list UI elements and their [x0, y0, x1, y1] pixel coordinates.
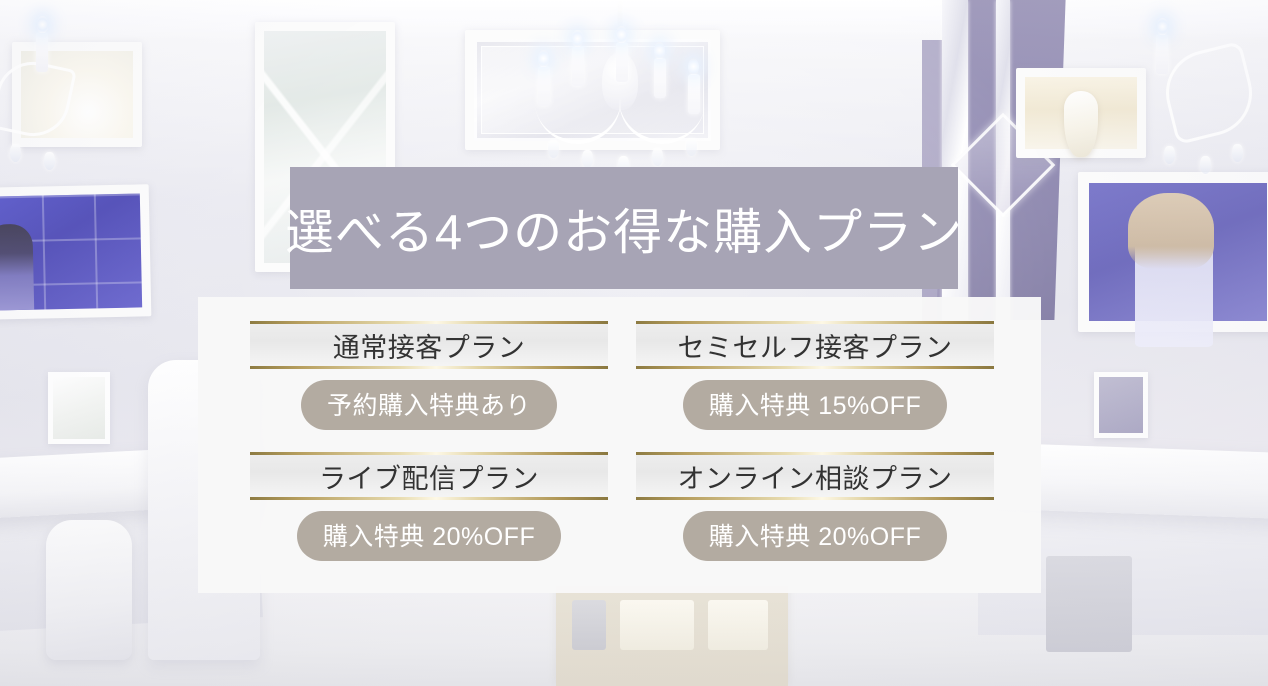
candle-flame	[616, 26, 627, 43]
crystal-drop	[44, 152, 55, 170]
bench-cushion	[620, 600, 694, 650]
candle-flame	[1157, 18, 1168, 35]
plan-title: ライブ配信プラン	[319, 457, 539, 496]
bench-panel	[572, 600, 606, 650]
wall-sconce-right	[1134, 20, 1264, 190]
promotional-banner-stage: 選べる4つのお得な購入プラン 通常接客プラン 予約購入特典あり セミセルフ接客プ…	[0, 0, 1268, 686]
woman-hair	[1128, 193, 1214, 269]
candle-flame	[538, 50, 549, 67]
plan-header: オンライン相談プラン	[636, 452, 994, 500]
person-silhouette	[0, 224, 34, 311]
plan-card-live-stream[interactable]: ライブ配信プラン 購入特典 20%OFF	[250, 452, 608, 561]
plan-title: オンライン相談プラン	[678, 457, 953, 496]
plan-card-standard[interactable]: 通常接客プラン 予約購入特典あり	[250, 321, 608, 430]
plan-benefit-badge: 購入特典 20%OFF	[683, 511, 947, 561]
niche-pane	[1025, 77, 1137, 149]
white-vase	[1064, 91, 1098, 157]
plan-card-online-consult[interactable]: オンライン相談プラン 購入特典 20%OFF	[636, 452, 994, 561]
plan-benefit-badge: 予約購入特典あり	[301, 380, 557, 430]
crystal-drop	[686, 138, 697, 156]
candle-flame	[572, 30, 583, 47]
laundry-bin	[1046, 556, 1132, 652]
candle-flame	[37, 16, 48, 33]
crystal-drop	[1232, 144, 1243, 162]
plans-grid: 通常接客プラン 予約購入特典あり セミセルフ接客プラン 購入特典 15%OFF …	[250, 321, 990, 561]
framed-vase-niche	[1016, 68, 1146, 158]
sconce-candle	[1156, 34, 1168, 74]
salon-chair-left	[46, 520, 132, 660]
wall-sconce-left	[0, 28, 108, 178]
sconce-candle	[36, 32, 48, 72]
framed-display-screen-left	[0, 184, 151, 319]
crystal-drop	[10, 144, 21, 162]
crystal-chandelier	[520, 0, 720, 180]
crystal-drop	[652, 148, 663, 166]
plan-badge-row: 予約購入特典あり	[250, 380, 608, 430]
candle-flame	[688, 58, 699, 75]
plan-title: 通常接客プラン	[333, 326, 526, 365]
screen-pane	[0, 193, 142, 310]
plan-benefit-badge: 購入特典 15%OFF	[683, 380, 947, 430]
crystal-drop	[548, 140, 559, 158]
crystal-drop	[1200, 156, 1211, 174]
screen-pane	[1089, 183, 1267, 321]
candle-flame	[654, 42, 665, 59]
plan-header: ライブ配信プラン	[250, 452, 608, 500]
chandelier-candle	[572, 46, 584, 86]
plan-badge-row: 購入特典 20%OFF	[636, 511, 994, 561]
plan-header: セミセルフ接客プラン	[636, 321, 994, 369]
plan-benefit-badge: 購入特典 20%OFF	[297, 511, 561, 561]
cushioned-bench	[556, 586, 788, 686]
page-title: 選べる4つのお得な購入プラン	[285, 193, 963, 264]
plan-badge-row: 購入特典 20%OFF	[250, 511, 608, 561]
hero-title-banner: 選べる4つのお得な購入プラン	[290, 167, 958, 289]
chandelier-candle	[654, 58, 666, 98]
chandelier-candle	[538, 66, 550, 106]
table-mirror-left	[48, 372, 110, 444]
crystal-drop	[582, 150, 593, 168]
plan-card-semi-self[interactable]: セミセルフ接客プラン 購入特典 15%OFF	[636, 321, 994, 430]
framed-display-screen-right	[1078, 172, 1268, 332]
plan-title: セミセルフ接客プラン	[678, 326, 953, 365]
chandelier-candle	[616, 42, 628, 82]
chandelier-candle	[688, 74, 700, 114]
bench-cushion	[708, 600, 768, 650]
table-mirror-right	[1094, 372, 1148, 438]
plan-header: 通常接客プラン	[250, 321, 608, 369]
crystal-drop	[1164, 146, 1175, 164]
plans-panel: 通常接客プラン 予約購入特典あり セミセルフ接客プラン 購入特典 15%OFF …	[198, 297, 1041, 593]
plan-badge-row: 購入特典 15%OFF	[636, 380, 994, 430]
sconce-scrollwork	[1157, 41, 1261, 145]
